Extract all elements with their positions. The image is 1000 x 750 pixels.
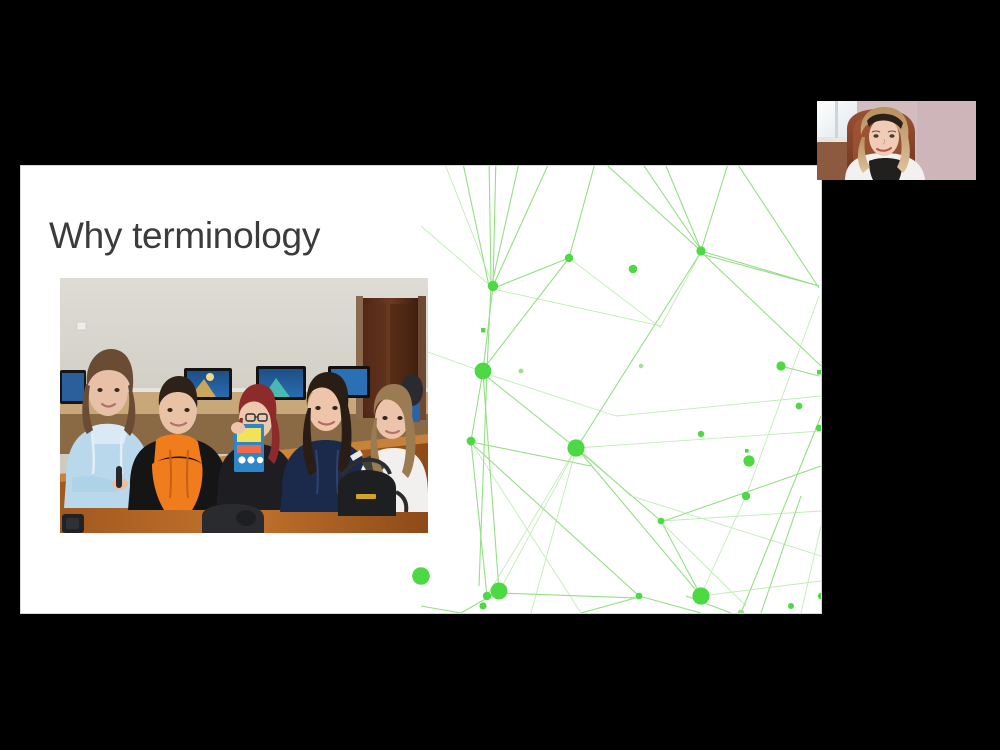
- slide-photo-classroom: [60, 278, 428, 533]
- page-title: Why terminology: [49, 215, 320, 258]
- meeting-stage: Why terminology: [0, 0, 1000, 750]
- webcam-speaker-thumbnail[interactable]: [817, 101, 976, 180]
- green-network-decoration: [401, 166, 821, 613]
